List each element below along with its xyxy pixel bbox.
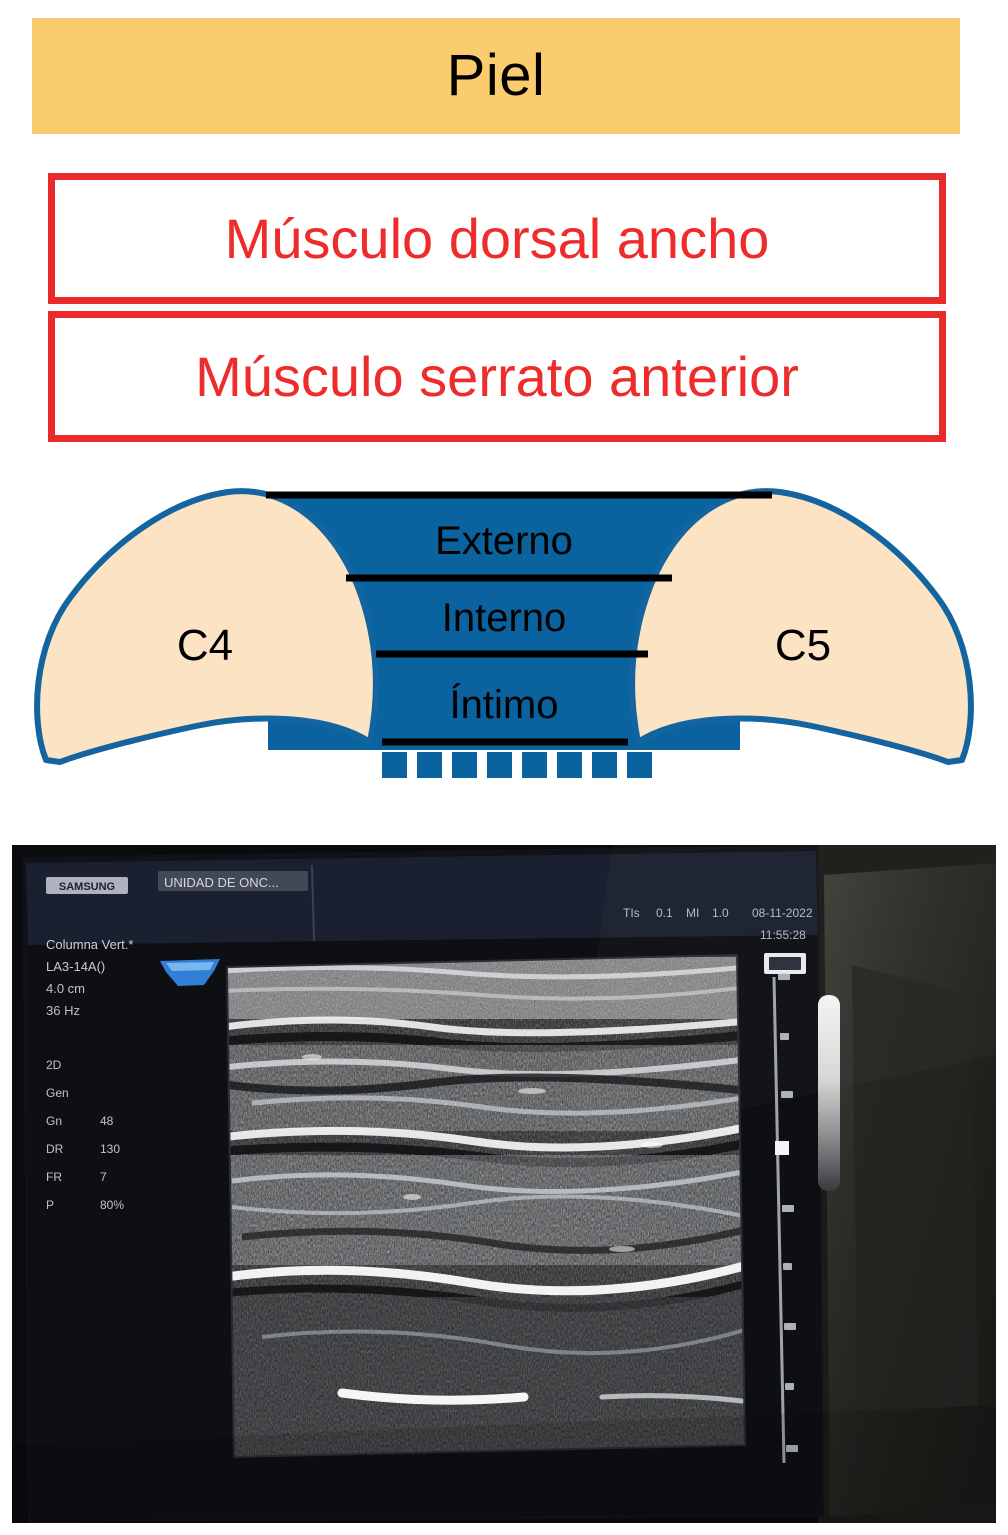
rib-c5-label: C5 bbox=[775, 621, 831, 670]
skin-layer-band: Piel bbox=[32, 18, 960, 134]
param-value-2: 48 bbox=[100, 1114, 114, 1128]
param-value-5: 80% bbox=[100, 1198, 124, 1212]
rib-c4: C4 bbox=[37, 491, 376, 762]
department-label: UNIDAD DE ONC... bbox=[158, 871, 308, 891]
pleura-dashed-line bbox=[382, 752, 652, 778]
intercostal-layer-externo-label: Externo bbox=[435, 519, 573, 563]
param-name-0: 2D bbox=[46, 1058, 62, 1072]
intercostal-layer-intimo-label: Íntimo bbox=[450, 682, 559, 727]
rib-c5: C5 bbox=[632, 491, 971, 762]
skin-layer-label: Piel bbox=[447, 47, 546, 105]
vendor-logo-text: SAMSUNG bbox=[59, 881, 115, 893]
latissimus-dorsi-label: Músculo dorsal ancho bbox=[225, 211, 770, 267]
intercostal-layer-interno-label: Interno bbox=[442, 596, 567, 640]
rib-intercostal-diagram: C4 C5 Externo Interno Íntimo bbox=[0, 470, 1008, 800]
focus-marker[interactable] bbox=[775, 1141, 789, 1155]
latissimus-dorsi-box: Músculo dorsal ancho bbox=[48, 173, 946, 304]
param-name-4: FR bbox=[46, 1170, 62, 1184]
preset-line-0: Columna Vert.* bbox=[46, 937, 133, 952]
department-label-text: UNIDAD DE ONC... bbox=[164, 875, 279, 890]
rib-c4-label: C4 bbox=[177, 621, 233, 670]
serratus-anterior-label: Músculo serrato anterior bbox=[195, 349, 799, 405]
preset-line-1: LA3-14A() bbox=[46, 959, 105, 974]
serratus-anterior-box: Músculo serrato anterior bbox=[48, 311, 946, 442]
param-name-2: Gn bbox=[46, 1114, 62, 1128]
preset-line-3: 36 Hz bbox=[46, 1003, 80, 1018]
preset-line-2: 4.0 cm bbox=[46, 981, 85, 996]
param-name-3: DR bbox=[46, 1142, 64, 1156]
param-name-1: Gen bbox=[46, 1086, 69, 1100]
param-value-4: 7 bbox=[100, 1170, 107, 1184]
param-value-3: 130 bbox=[100, 1142, 120, 1156]
vendor-logo: SAMSUNG bbox=[46, 877, 128, 894]
ultrasound-machine-photo: SAMSUNG UNIDAD DE ONC... TIs 0.1 MI 1.0 … bbox=[12, 845, 996, 1523]
param-name-5: P bbox=[46, 1198, 54, 1212]
